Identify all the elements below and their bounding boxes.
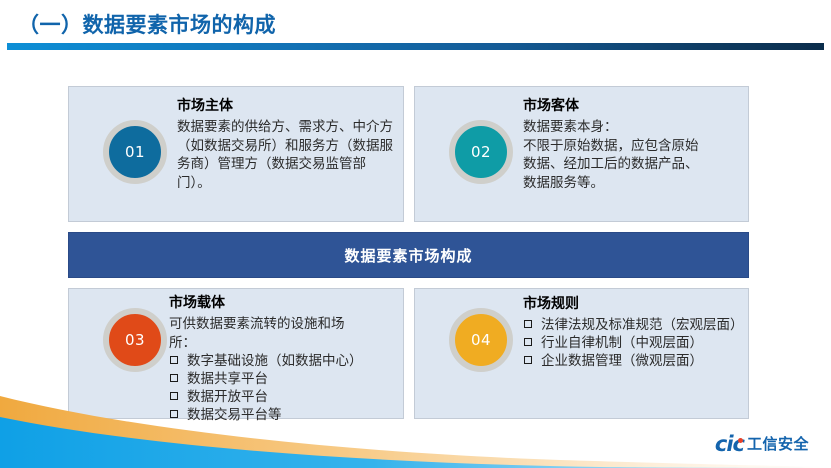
list-item: 数据交易平台等 <box>169 406 401 424</box>
list-item-label: 行业自律机制（中观层面） <box>541 335 703 351</box>
bullet-list-04: 法律法规及标准规范（宏观层面） 行业自律机制（中观层面） 企业数据管理（微观层面… <box>523 316 745 370</box>
card-heading-02: 市场客体 <box>523 97 745 116</box>
footer-brand-logo: cic 工信安全 <box>715 434 809 455</box>
square-bullet-icon <box>170 410 178 418</box>
slide-canvas: （一）数据要素市场的构成 01 市场主体 数据要素的供给方、需求方、中介方（如数… <box>0 0 831 468</box>
list-item-label: 数字基础设施（如数据中心） <box>187 353 363 369</box>
card-heading-04: 市场规则 <box>523 295 745 314</box>
center-banner: 数据要素市场构成 <box>68 232 749 278</box>
square-bullet-icon <box>170 356 178 364</box>
card-line: 所： <box>169 334 401 353</box>
card-number-badge-04: 04 <box>449 308 513 372</box>
card-body-02: 市场客体 数据要素本身： 不限于原始数据，应包含原始 数据、经加工后的数据产品、… <box>523 97 745 192</box>
cic-logo-text: cic <box>715 432 744 456</box>
center-banner-label: 数据要素市场构成 <box>344 245 472 266</box>
card-line: 不限于原始数据，应包含原始 <box>523 137 745 156</box>
card-line: 数据要素的供给方、需求方、中介方（如数据交易所）和服务方（数据服务商）管理方（数… <box>177 118 393 193</box>
card-heading-01: 市场主体 <box>177 97 393 116</box>
card-line: 数据服务等。 <box>523 174 745 193</box>
card-line: 数据要素本身： <box>523 118 745 137</box>
card-text-03: 可供数据要素流转的设施和场 所： <box>169 315 401 352</box>
list-item-label: 数据共享平台 <box>187 371 268 387</box>
list-item: 法律法规及标准规范（宏观层面） <box>523 316 745 334</box>
square-bullet-icon <box>170 392 178 400</box>
slide-header: （一）数据要素市场的构成 <box>0 0 831 56</box>
list-item-label: 企业数据管理（微观层面） <box>541 353 703 369</box>
brand-name-label: 工信安全 <box>747 437 809 452</box>
list-item-label: 数据开放平台 <box>187 389 268 405</box>
list-item-label: 法律法规及标准规范（宏观层面） <box>541 317 744 333</box>
list-item: 行业自律机制（中观层面） <box>523 334 745 352</box>
card-number-badge-03: 03 <box>103 308 167 372</box>
card-market-subject[interactable]: 01 市场主体 数据要素的供给方、需求方、中介方（如数据交易所）和服务方（数据服… <box>68 86 404 222</box>
card-market-rules[interactable]: 04 市场规则 法律法规及标准规范（宏观层面） 行业自律机制（中观层面） 企业数… <box>414 288 749 419</box>
square-bullet-icon <box>170 374 178 382</box>
square-bullet-icon <box>524 356 532 364</box>
card-text-01: 数据要素的供给方、需求方、中介方（如数据交易所）和服务方（数据服务商）管理方（数… <box>177 118 393 193</box>
card-body-03: 市场载体 可供数据要素流转的设施和场 所： 数字基础设施（如数据中心） 数据共享… <box>169 294 401 424</box>
square-bullet-icon <box>524 338 532 346</box>
cic-logo-mark: cic <box>715 434 744 455</box>
list-item: 企业数据管理（微观层面） <box>523 352 745 370</box>
bullet-list-03: 数字基础设施（如数据中心） 数据共享平台 数据开放平台 数据交易平台等 <box>169 352 401 424</box>
title-divider-rule <box>7 43 824 50</box>
square-bullet-icon <box>524 320 532 328</box>
card-market-carrier[interactable]: 03 市场载体 可供数据要素流转的设施和场 所： 数字基础设施（如数据中心） 数… <box>68 288 404 419</box>
card-line: 数据、经加工后的数据产品、 <box>523 155 745 174</box>
card-body-04: 市场规则 法律法规及标准规范（宏观层面） 行业自律机制（中观层面） 企业数据管理… <box>523 295 745 370</box>
card-number-badge-01: 01 <box>103 120 167 184</box>
list-item-label: 数据交易平台等 <box>187 407 282 423</box>
list-item: 数据共享平台 <box>169 370 401 388</box>
card-market-object[interactable]: 02 市场客体 数据要素本身： 不限于原始数据，应包含原始 数据、经加工后的数据… <box>414 86 749 222</box>
list-item: 数字基础设施（如数据中心） <box>169 352 401 370</box>
card-number-badge-02: 02 <box>449 120 513 184</box>
card-body-01: 市场主体 数据要素的供给方、需求方、中介方（如数据交易所）和服务方（数据服务商）… <box>177 97 393 192</box>
card-text-02: 数据要素本身： 不限于原始数据，应包含原始 数据、经加工后的数据产品、 数据服务… <box>523 118 745 193</box>
list-item: 数据开放平台 <box>169 388 401 406</box>
card-line: 可供数据要素流转的设施和场 <box>169 315 401 334</box>
card-heading-03: 市场载体 <box>169 294 401 313</box>
page-title: （一）数据要素市场的构成 <box>18 9 276 39</box>
logo-accent-dot-icon <box>738 438 743 443</box>
